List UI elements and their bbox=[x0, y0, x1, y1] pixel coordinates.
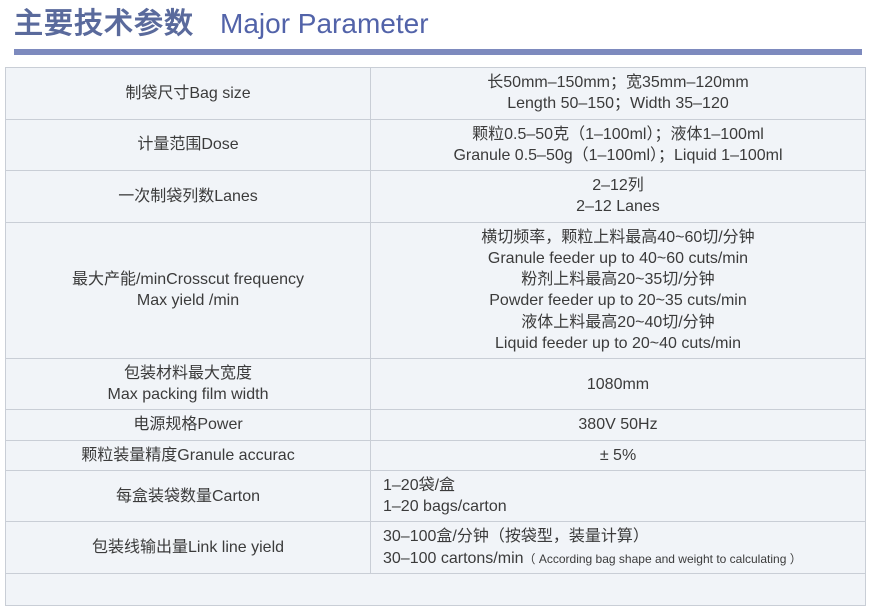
row-value-granule-accuracy: ± 5% bbox=[371, 440, 866, 470]
label-line: 电源规格Power bbox=[12, 414, 364, 435]
value-line: 30–100 cartons/min（ According bag shape … bbox=[383, 548, 859, 569]
value-line: Powder feeder up to 20~35 cuts/min bbox=[377, 290, 859, 311]
title-underline-bar bbox=[14, 49, 862, 55]
value-line: Length 50–150；Width 35–120 bbox=[377, 93, 859, 114]
table-row: 一次制袋列数Lanes 2–12列 2–12 Lanes bbox=[6, 171, 866, 223]
row-value-dose: 颗粒0.5–50克（1–100ml）；液体1–100ml Granule 0.5… bbox=[371, 119, 866, 171]
value-line: 1–20 bags/carton bbox=[383, 496, 859, 517]
empty-cell bbox=[6, 574, 866, 606]
row-label-link-line-yield: 包装线输出量Link line yield bbox=[6, 522, 371, 574]
page-header: 主要技术参数 Major Parameter bbox=[0, 0, 875, 38]
row-label-bag-size: 制袋尺寸Bag size bbox=[6, 68, 371, 120]
row-value-bag-size: 长50mm–150mm；宽35mm–120mm Length 50–150；Wi… bbox=[371, 68, 866, 120]
label-line: 最大产能/minCrosscut frequency bbox=[12, 269, 364, 290]
row-label-granule-accuracy: 颗粒装量精度Granule accurac bbox=[6, 440, 371, 470]
table-row: 计量范围Dose 颗粒0.5–50克（1–100ml）；液体1–100ml Gr… bbox=[6, 119, 866, 171]
table-row: 电源规格Power 380V 50Hz bbox=[6, 410, 866, 440]
page-title-chinese: 主要技术参数 bbox=[14, 10, 194, 39]
row-label-power: 电源规格Power bbox=[6, 410, 371, 440]
row-value-film-width: 1080mm bbox=[371, 359, 866, 410]
value-line: Granule feeder up to 40~60 cuts/min bbox=[377, 248, 859, 269]
table-row: 包装线输出量Link line yield 30–100盒/分钟（按袋型，装量计… bbox=[6, 522, 866, 574]
value-line: 1080mm bbox=[377, 374, 859, 395]
value-line: ± 5% bbox=[377, 445, 859, 466]
label-line: 计量范围Dose bbox=[12, 134, 364, 155]
label-line: 一次制袋列数Lanes bbox=[12, 186, 364, 207]
row-value-lanes: 2–12列 2–12 Lanes bbox=[371, 171, 866, 223]
value-line-main: 30–100 cartons/min bbox=[383, 550, 524, 567]
label-line: Max yield /min bbox=[12, 290, 364, 311]
specification-table-body: 制袋尺寸Bag size 长50mm–150mm；宽35mm–120mm Len… bbox=[6, 68, 866, 606]
value-line: 横切频率，颗粒上料最高40~60切/分钟 bbox=[377, 227, 859, 248]
table-row: 包装材料最大宽度 Max packing film width 1080mm bbox=[6, 359, 866, 410]
row-value-max-yield: 横切频率，颗粒上料最高40~60切/分钟 Granule feeder up t… bbox=[371, 222, 866, 359]
row-label-lanes: 一次制袋列数Lanes bbox=[6, 171, 371, 223]
label-line: 包装线输出量Link line yield bbox=[12, 537, 364, 558]
value-line: 1–20袋/盒 bbox=[383, 475, 859, 496]
row-label-max-yield: 最大产能/minCrosscut frequency Max yield /mi… bbox=[6, 222, 371, 359]
row-value-carton: 1–20袋/盒 1–20 bags/carton bbox=[371, 470, 866, 522]
label-line: 包装材料最大宽度 bbox=[12, 363, 364, 384]
table-row: 最大产能/minCrosscut frequency Max yield /mi… bbox=[6, 222, 866, 359]
table-row: 颗粒装量精度Granule accurac ± 5% bbox=[6, 440, 866, 470]
value-line: 液体上料最高20~40切/分钟 bbox=[377, 312, 859, 333]
table-row-empty bbox=[6, 574, 866, 606]
row-label-dose: 计量范围Dose bbox=[6, 119, 371, 171]
value-line: 30–100盒/分钟（按袋型，装量计算） bbox=[383, 526, 859, 547]
row-value-power: 380V 50Hz bbox=[371, 410, 866, 440]
row-label-carton: 每盒装袋数量Carton bbox=[6, 470, 371, 522]
specification-table: 制袋尺寸Bag size 长50mm–150mm；宽35mm–120mm Len… bbox=[5, 67, 866, 606]
row-value-link-line-yield: 30–100盒/分钟（按袋型，装量计算） 30–100 cartons/min（… bbox=[371, 522, 866, 574]
table-row: 制袋尺寸Bag size 长50mm–150mm；宽35mm–120mm Len… bbox=[6, 68, 866, 120]
page-title-english: Major Parameter bbox=[220, 10, 429, 38]
value-line: 380V 50Hz bbox=[377, 414, 859, 435]
row-label-film-width: 包装材料最大宽度 Max packing film width bbox=[6, 359, 371, 410]
label-line: 每盒装袋数量Carton bbox=[12, 486, 364, 507]
value-line: 粉剂上料最高20~35切/分钟 bbox=[377, 269, 859, 290]
label-line: 制袋尺寸Bag size bbox=[12, 83, 364, 104]
label-line: Max packing film width bbox=[12, 384, 364, 405]
value-line: Liquid feeder up to 20~40 cuts/min bbox=[377, 333, 859, 354]
value-line-note: （ According bag shape and weight to calc… bbox=[524, 552, 802, 566]
value-line: 2–12列 bbox=[377, 175, 859, 196]
value-line: Granule 0.5–50g（1–100ml）；Liquid 1–100ml bbox=[377, 145, 859, 166]
value-line: 长50mm–150mm；宽35mm–120mm bbox=[377, 72, 859, 93]
value-line: 颗粒0.5–50克（1–100ml）；液体1–100ml bbox=[377, 124, 859, 145]
value-line: 2–12 Lanes bbox=[377, 196, 859, 217]
table-row: 每盒装袋数量Carton 1–20袋/盒 1–20 bags/carton bbox=[6, 470, 866, 522]
label-line: 颗粒装量精度Granule accurac bbox=[12, 445, 364, 466]
